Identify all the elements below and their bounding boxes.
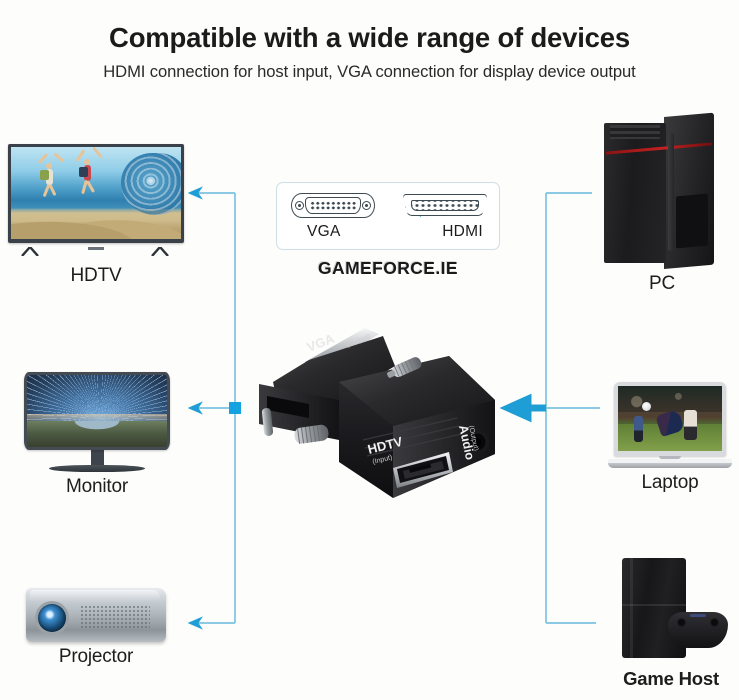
page-subtitle: HDMI connection for host input, VGA conn… [0, 62, 739, 82]
game-console-icon [612, 558, 730, 664]
device-projector[interactable]: Projector [26, 588, 166, 668]
monitor-icon [24, 372, 170, 450]
vga-connector-icon [291, 193, 375, 218]
infographic-canvas: Compatible with a wide range of devices … [0, 0, 739, 700]
adapter-body: HDTV (Input) Audio (Output) [339, 356, 495, 498]
desktop-tower-icon [604, 117, 716, 269]
device-monitor[interactable]: Monitor [24, 372, 170, 498]
watermark-text: GAMEFORCE.IE [276, 258, 500, 279]
connector-legend-box: VGA HDMI [276, 182, 500, 250]
vga-to-hdmi-adapter[interactable]: VGA (Output) HDTV (Input) [243, 322, 511, 506]
tv-legs [8, 247, 184, 256]
device-label-monitor: Monitor [24, 476, 170, 498]
device-label-laptop: Laptop [608, 472, 732, 494]
device-label-pc: PC [592, 273, 732, 295]
device-pc[interactable]: PC [592, 117, 732, 295]
page-title: Compatible with a wide range of devices [0, 22, 739, 54]
device-label-hdtv: HDTV [8, 265, 184, 287]
device-laptop[interactable]: Laptop [608, 382, 732, 494]
wire-node-left [229, 402, 241, 414]
projector-icon [26, 588, 166, 642]
device-hdtv[interactable]: HDTV [8, 144, 184, 287]
device-label-game-host: Game Host [612, 668, 730, 690]
input-flow-arrow [508, 399, 546, 417]
hdmi-label: HDMI [442, 223, 483, 241]
television-icon [8, 144, 184, 243]
hdmi-connector-icon [403, 194, 487, 216]
device-game-host[interactable]: Game Host [612, 558, 730, 690]
device-label-projector: Projector [26, 646, 166, 668]
laptop-icon [614, 382, 726, 456]
vga-label: VGA [307, 223, 341, 241]
